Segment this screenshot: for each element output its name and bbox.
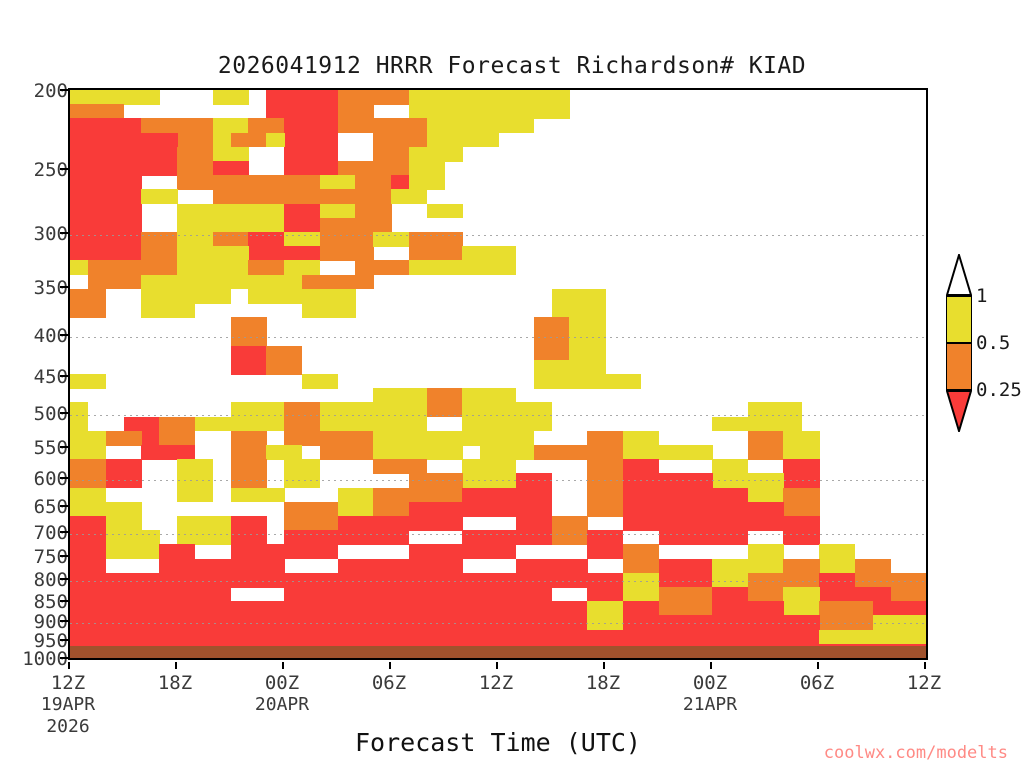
- heatmap-cell: [141, 275, 177, 304]
- heatmap-cell: [70, 431, 106, 460]
- heatmap-cell: [427, 118, 535, 133]
- y-axis-tick-mark: [60, 286, 68, 288]
- heatmap-cell: [231, 317, 267, 346]
- y-axis-tick-label: 850: [8, 591, 68, 613]
- y-axis-tick-label: 200: [8, 80, 68, 102]
- heatmap-cell: [409, 90, 570, 119]
- heatmap-cell: [266, 104, 302, 119]
- heatmap-cell: [213, 161, 249, 176]
- y-axis-tick-mark: [60, 578, 68, 580]
- heatmap-cell: [106, 573, 160, 616]
- heatmap-cell: [284, 246, 320, 261]
- heatmap-cell: [516, 473, 552, 516]
- heatmap-cell: [569, 317, 605, 389]
- heatmap-cell: [231, 601, 285, 630]
- heatmap-cell: [284, 573, 338, 602]
- y-axis-tick-label: 250: [8, 159, 68, 181]
- y-axis-tick-label: 700: [8, 522, 68, 544]
- heatmap-cell: [409, 587, 463, 630]
- x-axis-tick-mark: [603, 662, 605, 669]
- y-axis-tick-mark: [60, 232, 68, 234]
- heatmap-cell: [819, 544, 855, 573]
- heatmap-cell: [231, 544, 285, 587]
- richardson-number-colorbar: 10.50.25: [946, 296, 972, 478]
- heatmap-cell: [373, 488, 409, 517]
- heatmap-cell: [70, 104, 124, 119]
- y-axis-tick-label: 1000: [8, 648, 68, 670]
- y-axis-tick-label: 600: [8, 468, 68, 490]
- y-axis-tick-label: 400: [8, 325, 68, 347]
- heatmap-cell: [516, 587, 552, 630]
- heatmap-cell: [855, 559, 891, 588]
- y-axis-tick-label: 300: [8, 223, 68, 245]
- heatmap-cell: [248, 118, 266, 133]
- heatmap-cell: [659, 473, 713, 516]
- heatmap-cell: [427, 431, 481, 446]
- heatmap-cell: [70, 559, 106, 616]
- x-axis-tick-label: 06Z: [372, 672, 406, 694]
- heatmap-cell: [427, 204, 463, 219]
- heatmap-cell: [819, 573, 855, 602]
- heatmap-cell: [213, 133, 231, 148]
- y-axis-tick-label: 800: [8, 569, 68, 591]
- heatmap-cell: [320, 431, 374, 460]
- heatmap-cell: [320, 189, 356, 204]
- x-tick-time: 06Z: [372, 672, 406, 694]
- heatmap-cell: [748, 601, 784, 630]
- heatmap-cell: [534, 317, 570, 360]
- heatmap-cell: [355, 260, 409, 275]
- heatmap-cell: [177, 260, 249, 289]
- heatmap-cell: [338, 488, 374, 517]
- x-axis-label: Forecast Time (UTC): [68, 728, 928, 757]
- heatmap-cell: [819, 601, 873, 630]
- heatmap-cells: [70, 90, 926, 658]
- y-axis-tick-label: 550: [8, 437, 68, 459]
- heatmap-plot-area: [68, 88, 928, 660]
- x-axis-tick-mark: [496, 662, 498, 669]
- heatmap-cell: [783, 488, 819, 517]
- heatmap-cell: [266, 118, 284, 133]
- heatmap-cell: [70, 402, 88, 431]
- heatmap-cell: [106, 90, 160, 105]
- heatmap-cell: [783, 587, 819, 616]
- y-axis-tick-mark: [60, 555, 68, 557]
- heatmap-cell: [409, 473, 463, 502]
- x-tick-time: 12Z: [41, 672, 95, 694]
- heatmap-cell: [70, 260, 88, 275]
- heatmap-cell: [195, 417, 231, 432]
- heatmap-cell: [231, 431, 267, 460]
- colorbar-cap-bottom: [946, 390, 972, 432]
- heatmap-cell: [712, 559, 748, 588]
- colorbar-tick-label: 0.25: [976, 379, 1022, 401]
- heatmap-cell: [320, 402, 374, 431]
- x-axis-tick-mark: [175, 662, 177, 669]
- heatmap-cell: [338, 90, 410, 105]
- heatmap-cell: [516, 402, 552, 431]
- heatmap-cell: [141, 303, 195, 318]
- heatmap-cell: [623, 502, 659, 531]
- x-tick-time: 06Z: [800, 672, 834, 694]
- heatmap-cell: [659, 445, 713, 460]
- heatmap-cell: [177, 516, 231, 545]
- heatmap-cell: [266, 346, 302, 375]
- heatmap-cell: [159, 445, 195, 460]
- heatmap-cell: [783, 615, 819, 644]
- x-tick-time: 12Z: [479, 672, 513, 694]
- heatmap-cell: [712, 587, 748, 616]
- heatmap-cell: [552, 601, 588, 630]
- heatmap-cell: [141, 189, 177, 204]
- heatmap-cell: [623, 544, 659, 573]
- heatmap-cell: [177, 147, 213, 190]
- heatmap-cell: [623, 573, 659, 602]
- heatmap-cell: [284, 601, 338, 630]
- heatmap-cell: [177, 289, 231, 304]
- heatmap-cell: [659, 587, 713, 616]
- heatmap-cell: [320, 232, 374, 261]
- heatmap-cell: [516, 559, 588, 588]
- x-axis-tick-label: 18Z: [158, 672, 192, 694]
- heatmap-cell: [338, 104, 374, 133]
- heatmap-cell: [783, 431, 819, 460]
- heatmap-cell: [266, 445, 302, 460]
- heatmap-cell: [302, 374, 338, 389]
- heatmap-cell: [106, 502, 142, 531]
- heatmap-cell: [355, 175, 391, 204]
- x-tick-day: 19APR: [41, 694, 95, 716]
- heatmap-cell: [70, 90, 106, 105]
- heatmap-cell: [587, 573, 623, 602]
- heatmap-cell: [587, 601, 623, 630]
- heatmap-cell: [712, 516, 748, 545]
- heatmap-cell: [890, 573, 926, 602]
- heatmap-cell: [70, 289, 106, 318]
- x-axis-tick-label: 12Z: [479, 672, 513, 694]
- x-tick-time: 18Z: [586, 672, 620, 694]
- heatmap-cell: [338, 601, 410, 630]
- x-axis-tick-mark: [282, 662, 284, 669]
- heatmap-cell: [552, 516, 588, 545]
- y-axis-tick-mark: [60, 168, 68, 170]
- y-axis-tick-mark: [60, 412, 68, 414]
- heatmap-cell: [462, 388, 516, 431]
- heatmap-cell: [373, 118, 427, 147]
- x-axis-tick-label: 06Z: [800, 672, 834, 694]
- heatmap-cell: [213, 118, 249, 133]
- y-axis-tick-label: 350: [8, 277, 68, 299]
- heatmap-cell: [231, 459, 267, 488]
- heatmap-cell: [819, 630, 873, 645]
- heatmap-cell: [623, 459, 659, 502]
- x-axis-tick-label: 00Z21APR: [683, 672, 737, 716]
- x-tick-time: 00Z: [255, 672, 309, 694]
- y-axis-tick-mark: [60, 600, 68, 602]
- heatmap-cell: [712, 417, 766, 432]
- colorbar-band: [946, 343, 972, 390]
- colorbar-cap-top: [946, 254, 972, 296]
- heatmap-cell: [427, 445, 463, 460]
- heatmap-cell: [284, 175, 320, 204]
- heatmap-cell: [355, 204, 391, 233]
- heatmap-cell: [231, 516, 267, 545]
- heatmap-cell: [783, 516, 819, 545]
- heatmap-cell: [320, 218, 356, 233]
- heatmap-cell: [783, 459, 819, 488]
- heatmap-cell: [748, 502, 784, 531]
- y-axis-tick-label: 500: [8, 403, 68, 425]
- page-title: 2026041912 HRRR Forecast Richardson# KIA…: [0, 53, 1024, 79]
- heatmap-cell: [409, 544, 463, 587]
- heatmap-cell: [373, 147, 409, 176]
- heatmap-cell: [587, 530, 623, 559]
- y-axis-tick-mark: [60, 657, 68, 659]
- x-axis-tick-mark: [710, 662, 712, 669]
- heatmap-cell: [213, 175, 285, 204]
- heatmap-cell: [409, 260, 463, 275]
- x-tick-day: 20APR: [255, 694, 309, 716]
- heatmap-cell: [284, 118, 338, 175]
- heatmap-cell: [106, 459, 142, 488]
- heatmap-cell: [177, 204, 285, 233]
- colorbar-tick-label: 0.5: [976, 332, 1010, 354]
- heatmap-cell: [587, 488, 623, 517]
- heatmap-cell: [213, 246, 249, 261]
- heatmap-cell: [284, 530, 338, 559]
- heatmap-cell: [748, 544, 784, 573]
- heatmap-cell: [213, 90, 249, 105]
- heatmap-cell: [873, 615, 927, 644]
- heatmap-cell: [338, 161, 374, 176]
- heatmap-cell: [284, 502, 338, 531]
- terrain-band: [70, 646, 926, 658]
- heatmap-cell: [623, 601, 659, 630]
- heatmap-cell: [427, 388, 463, 417]
- colorbar-tick-label: 1: [976, 285, 987, 307]
- heatmap-cell: [231, 402, 285, 431]
- heatmap-cell: [70, 118, 142, 190]
- y-axis-tick-mark: [60, 89, 68, 91]
- heatmap-cell: [373, 388, 427, 431]
- heatmap-cell: [284, 459, 320, 488]
- y-axis-tick-mark: [60, 620, 68, 622]
- heatmap-cell: [462, 530, 516, 559]
- heatmap-cell: [748, 573, 784, 602]
- heatmap-cell: [284, 232, 320, 247]
- heatmap-cell: [623, 431, 659, 460]
- heatmap-cell: [748, 473, 784, 502]
- x-tick-time: 18Z: [158, 672, 192, 694]
- x-axis-tick-mark: [68, 662, 70, 669]
- heatmap-cell: [605, 374, 641, 389]
- x-axis-tick-label: 00Z20APR: [255, 672, 309, 716]
- heatmap-cell: [783, 559, 819, 588]
- y-axis-tick-mark: [60, 505, 68, 507]
- heatmap-cell: [338, 516, 374, 545]
- heatmap-cell: [338, 559, 410, 602]
- heatmap-cell: [213, 232, 249, 247]
- heatmap-cell: [70, 488, 106, 517]
- heatmap-cell: [587, 459, 623, 488]
- heatmap-cell: [462, 488, 516, 517]
- heatmap-cell: [106, 530, 160, 559]
- heatmap-cell: [70, 189, 142, 261]
- heatmap-cell: [88, 260, 142, 289]
- heatmap-cell: [373, 431, 427, 460]
- heatmap-cell: [141, 232, 177, 275]
- x-axis-tick-mark: [817, 662, 819, 669]
- y-axis-tick-mark: [60, 375, 68, 377]
- heatmap-cell: [248, 232, 284, 261]
- heatmap-cell: [391, 175, 409, 190]
- x-axis-tick-label: 18Z: [586, 672, 620, 694]
- heatmap-cell: [462, 459, 516, 488]
- y-axis-tick-label: 750: [8, 546, 68, 568]
- heatmap-cell: [534, 360, 570, 389]
- heatmap-cell: [373, 516, 409, 545]
- heatmap-cell: [284, 260, 320, 275]
- heatmap-cell: [302, 275, 374, 290]
- heatmap-cell: [141, 118, 177, 133]
- heatmap-cell: [70, 459, 106, 488]
- watermark: coolwx.com/modelts: [824, 743, 1008, 763]
- heatmap-cell: [159, 417, 195, 446]
- y-axis: 2002503003504004505005506006507007508008…: [0, 88, 68, 660]
- heatmap-cell: [516, 516, 552, 545]
- heatmap-cell: [106, 431, 142, 446]
- x-tick-time: 00Z: [683, 672, 737, 694]
- chart-page: 2026041912 HRRR Forecast Richardson# KIA…: [0, 0, 1024, 768]
- heatmap-cell: [302, 289, 356, 318]
- x-axis-tick-mark: [389, 662, 391, 669]
- y-axis-tick-mark: [60, 531, 68, 533]
- heatmap-cell: [409, 161, 445, 190]
- heatmap-cell: [409, 147, 463, 162]
- y-axis-tick-label: 650: [8, 496, 68, 518]
- heatmap-cell: [70, 374, 106, 389]
- heatmap-cell: [534, 445, 588, 460]
- x-axis-tick-mark: [924, 662, 926, 669]
- heatmap-cell: [427, 133, 499, 148]
- heatmap-cell: [177, 459, 213, 502]
- heatmap-cell: [552, 289, 606, 318]
- heatmap-cell: [748, 431, 784, 460]
- heatmap-cell: [70, 516, 106, 559]
- y-axis-tick-mark: [60, 334, 68, 336]
- heatmap-cell: [248, 260, 284, 275]
- heatmap-cell: [320, 204, 356, 219]
- heatmap-cell: [409, 502, 463, 531]
- y-axis-tick-label: 450: [8, 366, 68, 388]
- heatmap-cell: [284, 204, 320, 233]
- heatmap-cell: [266, 133, 284, 148]
- heatmap-cell: [659, 516, 713, 545]
- heatmap-cell: [231, 346, 267, 375]
- heatmap-cell: [213, 147, 249, 162]
- heatmap-cell: [231, 133, 267, 148]
- heatmap-cell: [659, 559, 713, 588]
- heatmap-cell: [141, 133, 177, 176]
- heatmap-cell: [159, 587, 231, 630]
- heatmap-cell: [462, 246, 516, 275]
- heatmap-cell: [159, 544, 195, 587]
- heatmap-cell: [462, 573, 516, 616]
- heatmap-cell: [373, 459, 427, 474]
- heatmap-cell: [409, 232, 463, 261]
- heatmap-cell: [177, 118, 213, 147]
- x-tick-time: 12Z: [907, 672, 941, 694]
- x-axis-tick-label: 12Z: [907, 672, 941, 694]
- heatmap-cell: [231, 488, 285, 503]
- heatmap-cell: [712, 459, 748, 488]
- heatmap-cell: [480, 431, 534, 460]
- heatmap-cell: [373, 232, 409, 247]
- colorbar-band: [946, 296, 972, 343]
- heatmap-cell: [391, 189, 427, 204]
- heatmap-cell: [177, 232, 213, 261]
- x-tick-day: 21APR: [683, 694, 737, 716]
- y-axis-tick-mark: [60, 639, 68, 641]
- heatmap-cell: [712, 488, 748, 517]
- y-axis-tick-mark: [60, 446, 68, 448]
- heatmap-cell: [320, 175, 356, 190]
- heatmap-cell: [284, 402, 320, 445]
- y-axis-tick-mark: [60, 477, 68, 479]
- heatmap-cell: [248, 275, 302, 304]
